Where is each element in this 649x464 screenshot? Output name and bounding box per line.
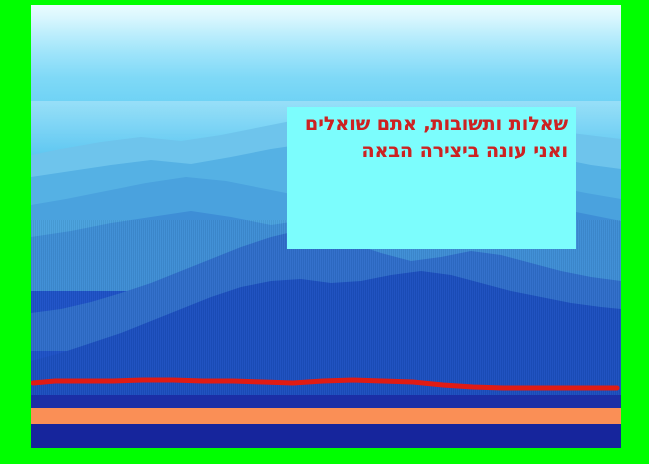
image-canvas: שאלות ותשובות, אתם שואלים ואני עונה ביצי…	[0, 0, 649, 464]
orange-band	[31, 408, 621, 424]
dark-blue-band-top	[31, 395, 621, 408]
dark-blue-band-bottom	[31, 424, 621, 448]
mountain-photo: שאלות ותשובות, אתם שואלים ואני עונה ביצי…	[31, 5, 621, 448]
caption-box: שאלות ותשובות, אתם שואלים ואני עונה ביצי…	[287, 107, 576, 249]
caption-line-2: ואני עונה ביצירה הבאה	[295, 138, 568, 165]
caption-line-1: שאלות ותשובות, אתם שואלים	[295, 111, 568, 138]
